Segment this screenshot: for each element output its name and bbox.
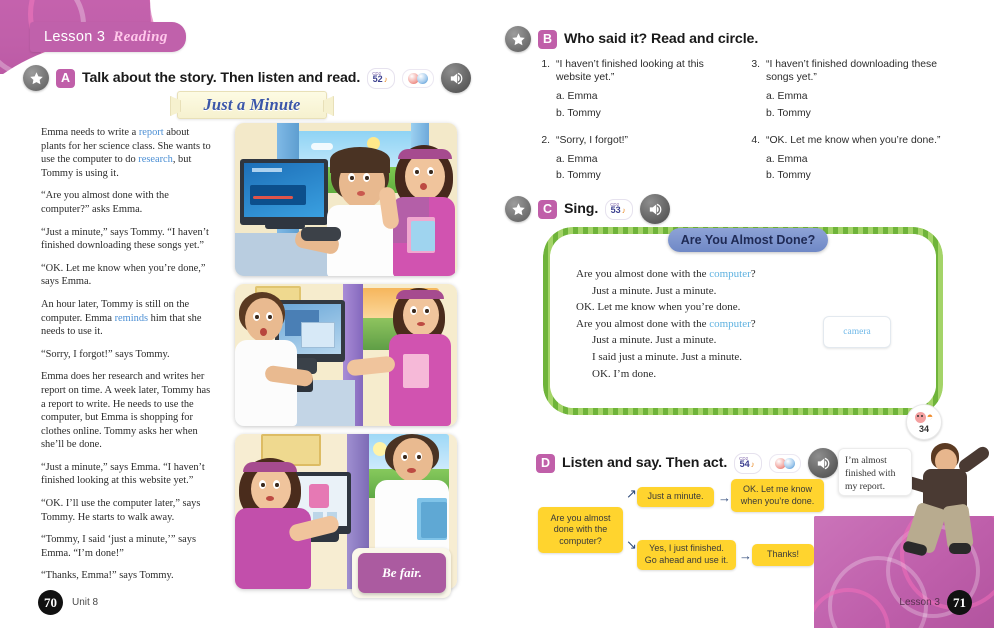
lyric-keyword: computer — [709, 268, 751, 280]
question-number: 1. — [539, 58, 550, 85]
girl-headband — [396, 290, 444, 299]
answer-option[interactable]: b. Tommy — [766, 107, 964, 120]
cd-track-icon[interactable]: CD2 52 ♪ — [367, 68, 395, 89]
girl-mouth — [266, 496, 274, 501]
girl-eye — [259, 480, 266, 489]
lyric-line: I said just a minute. Just a minute. — [576, 349, 876, 366]
arrow-icon: → — [739, 549, 752, 562]
dialog-bubble-branch1[interactable]: Just a minute. — [637, 487, 714, 507]
story-text-run: “Sorry, I forgot!” says Tommy. — [41, 349, 170, 360]
question-text: “OK. Let me know when you’re done.” — [766, 134, 964, 147]
girl-head — [251, 466, 291, 512]
illustration-panel-2 — [235, 284, 457, 426]
girl-eye — [423, 306, 430, 315]
cd-track-icon[interactable]: CD2 54 ♪ — [734, 453, 762, 474]
activity-d-header: D Listen and say. Then act. CD2 54 ♪ — [536, 448, 838, 478]
small-speaker-icon: ♪ — [384, 75, 388, 84]
boy-book — [421, 502, 447, 538]
photo-arm — [956, 444, 991, 475]
activity-d-title: Listen and say. Then act. — [562, 455, 727, 471]
boy-mouth — [357, 191, 365, 196]
story-text-run: “Are you almost done with the computer?”… — [41, 190, 169, 215]
cd-label: CD2 — [739, 457, 748, 462]
lesson-label: Lesson 3 — [899, 597, 940, 608]
girl-eye — [273, 480, 280, 489]
story-paragraph: “Just a minute,” says Emma. “I haven’t f… — [41, 461, 213, 488]
girl-eye — [413, 167, 420, 176]
question-column-1: 1.“I haven’t finished looking at this we… — [539, 58, 739, 197]
cd-track-number: 54 — [740, 460, 750, 469]
activity-c-header: C Sing. CD2 53 ♪ — [505, 194, 670, 224]
story-paragraph: “Thanks, Emma!” says Tommy. — [41, 569, 213, 583]
lyric-line: OK. Let me know when you’re done. — [576, 299, 876, 316]
lyric-text-run: ? — [751, 318, 756, 330]
story-paragraph: “OK. I’ll use the computer later,” says … — [41, 497, 213, 524]
keyboard — [301, 227, 341, 241]
lyric-text-run: Are you almost done with the — [576, 318, 709, 330]
story-text-run: “OK. Let me know when you’re done,” says… — [41, 263, 205, 288]
question-number: 2. — [539, 134, 550, 147]
boy-mouth — [407, 468, 416, 473]
ar-badge[interactable]: ◓ 34 — [906, 404, 942, 440]
activity-a-header: A Talk about the story. Then listen and … — [23, 63, 471, 93]
star-icon — [505, 196, 531, 222]
story-paragraph: “Are you almost done with the computer?”… — [41, 189, 213, 216]
boy-eye — [253, 312, 260, 321]
cd-label: CD2 — [372, 72, 381, 77]
lyric-line: Are you almost done with the computer? — [576, 266, 876, 283]
vocabulary-word: camera — [843, 327, 870, 337]
boy-eye — [348, 173, 355, 182]
girl-book — [411, 221, 435, 251]
lesson-tab: Lesson 3 Reading — [30, 22, 186, 52]
boy-hair-top — [330, 147, 390, 173]
question-text: “I haven’t finished looking at this webs… — [556, 58, 739, 85]
cd-track-number: 52 — [373, 75, 383, 84]
student-photo — [905, 443, 991, 573]
answer-options: a. Emmab. Tommy — [556, 153, 739, 183]
left-page-footer: 70 Unit 8 — [38, 590, 98, 615]
activity-c-title: Sing. — [564, 201, 598, 217]
question-text: “I haven’t finished downloading these so… — [766, 58, 964, 85]
lyric-keyword: computer — [709, 318, 751, 330]
story-title-banner: Just a Minute — [177, 91, 327, 119]
girl-headband — [398, 149, 452, 159]
activity-letter-d: D — [536, 454, 555, 473]
girl-eye — [427, 167, 434, 176]
dialog-bubble-branch1-reply[interactable]: OK. Let me know when you’re done. — [731, 479, 824, 512]
girl-head — [405, 153, 445, 200]
story-text-run: “Just a minute,” says Emma. “I haven’t f… — [41, 462, 205, 487]
question-row: 2.“Sorry, I forgot!” — [539, 134, 739, 147]
monitor-stand — [265, 223, 305, 229]
song-title-text: Are You Almost Done? — [681, 233, 816, 247]
audio-speaker-button[interactable] — [808, 448, 838, 478]
story-keyword: report — [139, 127, 164, 138]
story-paragraph: “Sorry, I forgot!” says Tommy. — [41, 348, 213, 362]
lyric-text-run: I said just a minute. Just a minute. — [592, 351, 742, 363]
activity-letter-a: A — [56, 69, 75, 88]
story-text-run: “OK. I’ll use the computer later,” says … — [41, 498, 200, 523]
story-text-run: “Thanks, Emma!” says Tommy. — [41, 570, 174, 581]
boy-head — [393, 438, 433, 482]
lyric-text-run: OK. Let me know when you’re done. — [576, 301, 740, 313]
answer-option[interactable]: a. Emma — [556, 90, 739, 103]
girl-mouth — [420, 183, 427, 190]
answer-option[interactable]: a. Emma — [766, 153, 964, 166]
photo-shoe — [949, 543, 971, 554]
question-row: 1.“I haven’t finished looking at this we… — [539, 58, 739, 85]
value-note-text: Be fair. — [382, 565, 422, 581]
lyric-text-run: Just a minute. Just a minute. — [592, 334, 716, 346]
multirom-disc-blue — [784, 458, 795, 469]
lyric-text-run: ? — [751, 268, 756, 280]
ar-icons: ◓ — [915, 410, 934, 424]
story-text-run: Emma needs to write a — [41, 127, 139, 138]
story-paragraph: “Just a minute,” says Tommy. “I haven’t … — [41, 226, 213, 253]
small-speaker-icon: ♪ — [622, 206, 626, 215]
multirom-icon[interactable] — [769, 454, 801, 473]
lesson-number: Lesson 3 — [44, 29, 105, 45]
answer-option[interactable]: b. Tommy — [556, 107, 739, 120]
question-column-2: 3.“I haven’t finished downloading these … — [749, 58, 964, 197]
multirom-icon[interactable] — [402, 69, 434, 88]
lyric-text-run: Just a minute. Just a minute. — [592, 285, 716, 297]
story-text-run: “Just a minute,” says Tommy. “I haven’t … — [41, 227, 209, 252]
dialog-bubble-start[interactable]: Are you almost done with the computer? — [538, 507, 623, 553]
multirom-disc-blue — [417, 73, 428, 84]
question-block: 2.“Sorry, I forgot!”a. Emmab. Tommy — [539, 134, 739, 183]
illustration-panel-1 — [235, 123, 457, 276]
boy-eye — [401, 452, 408, 461]
story-text: Emma needs to write a report about plant… — [41, 126, 213, 592]
story-paragraph: Emma needs to write a report about plant… — [41, 126, 213, 180]
cd-label: CD2 — [610, 203, 619, 208]
question-block: 3.“I haven’t finished downloading these … — [749, 58, 964, 120]
lyric-line: Just a minute. Just a minute. — [576, 283, 876, 300]
boy-mouth — [260, 328, 267, 336]
activity-letter-b: B — [538, 30, 557, 49]
vocabulary-card-camera: camera — [823, 316, 891, 348]
girl-mouth — [417, 322, 425, 326]
lyric-text-run: OK. I’m done. — [592, 368, 656, 380]
story-text-run: “Tommy, I said ‘just a minute,’” says Em… — [41, 534, 196, 559]
ar-face-icon — [915, 412, 926, 423]
question-row: 3.“I haven’t finished downloading these … — [749, 58, 964, 85]
unit-label: Unit 8 — [72, 597, 98, 608]
arrow-icon: → — [718, 491, 731, 504]
small-speaker-icon: ♪ — [751, 460, 755, 469]
song-title-banner: Are You Almost Done? — [668, 228, 828, 252]
story-keyword: reminds — [115, 313, 148, 324]
story-paragraph: An hour later, Tommy is still on the com… — [41, 298, 213, 339]
question-block: 4.“OK. Let me know when you’re done.”a. … — [749, 134, 964, 183]
activity-letter-c: C — [538, 200, 557, 219]
lyric-text-run: Are you almost done with the — [576, 268, 709, 280]
story-paragraph: “Tommy, I said ‘just a minute,’” says Em… — [41, 533, 213, 560]
girl-eye — [410, 306, 417, 315]
audio-speaker-button[interactable] — [441, 63, 471, 93]
answer-option[interactable]: a. Emma — [766, 90, 964, 103]
lesson-section-name: Reading — [113, 29, 167, 46]
cd-track-icon[interactable]: CD2 53 ♪ — [605, 199, 633, 220]
ar-signal-icon: ◓ — [927, 412, 934, 423]
boy-eye — [415, 452, 422, 461]
boy-eye — [266, 312, 273, 321]
story-paragraph: “OK. Let me know when you’re done,” says… — [41, 262, 213, 289]
page-number-right: 71 — [947, 590, 972, 615]
activity-a-title: Talk about the story. Then listen and re… — [82, 70, 360, 86]
audio-speaker-button[interactable] — [640, 194, 670, 224]
dialog-bubble-branch2[interactable]: Yes, I just finished. Go ahead and use i… — [637, 540, 736, 570]
question-block: 1.“I haven’t finished looking at this we… — [539, 58, 739, 120]
question-number: 4. — [749, 134, 760, 147]
answer-option[interactable]: a. Emma — [556, 153, 739, 166]
dialog-bubble-branch2-reply[interactable]: Thanks! — [752, 544, 814, 566]
answer-options: a. Emmab. Tommy — [556, 90, 739, 120]
question-text: “Sorry, I forgot!” — [556, 134, 739, 147]
ar-number: 34 — [919, 424, 929, 434]
activity-b-title: Who said it? Read and circle. — [564, 31, 758, 47]
cd-track-number: 53 — [611, 206, 621, 215]
star-icon — [23, 65, 49, 91]
girl-head — [403, 294, 439, 336]
answer-options: a. Emmab. Tommy — [766, 90, 964, 120]
arrow-icon: ↗ — [626, 487, 637, 500]
photo-speech-bubble: I’m almost finished with my report. — [838, 448, 912, 496]
story-text-run: Emma does her research and writes her re… — [41, 371, 210, 450]
star-icon — [505, 26, 531, 52]
textbook-spread: Lesson 3 Reading A Talk about the story.… — [0, 0, 994, 628]
value-note: Be fair. — [358, 553, 446, 593]
story-keyword: research — [138, 154, 173, 165]
page-number-left: 70 — [38, 590, 63, 615]
answer-options: a. Emmab. Tommy — [766, 153, 964, 183]
answer-option[interactable]: b. Tommy — [766, 169, 964, 182]
monitor-screen — [244, 163, 324, 217]
girl-body — [235, 508, 311, 589]
right-page-footer: Lesson 3 71 — [899, 590, 972, 615]
question-row: 4.“OK. Let me know when you’re done.” — [749, 134, 964, 147]
lyric-line: OK. I’m done. — [576, 366, 876, 383]
story-paragraph: Emma does her research and writes her re… — [41, 370, 213, 452]
story-title: Just a Minute — [203, 95, 300, 115]
girl-book — [403, 354, 429, 388]
boy-eye — [363, 173, 370, 182]
activity-b-header: B Who said it? Read and circle. — [505, 26, 758, 52]
girl-headband — [243, 462, 297, 472]
question-number: 3. — [749, 58, 760, 85]
answer-option[interactable]: b. Tommy — [556, 169, 739, 182]
arrow-icon: ↘ — [626, 538, 637, 551]
